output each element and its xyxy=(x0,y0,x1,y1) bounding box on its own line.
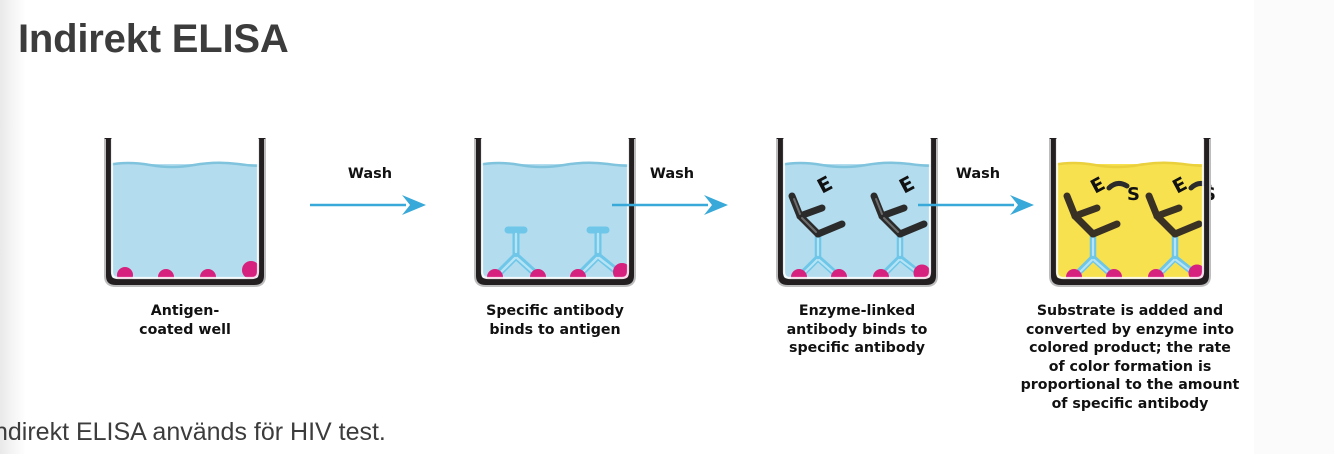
slide-page: Indirekt ELISA xyxy=(0,0,1334,454)
wash-arrow-1: Wash xyxy=(310,166,430,236)
caption-line: specific antibody xyxy=(789,340,925,356)
step-1-caption: Antigen- coated well xyxy=(60,302,310,339)
caption-line: Specific antibody xyxy=(486,303,624,319)
step-4-well-graphic: E S xyxy=(1005,120,1255,275)
arrow-icon xyxy=(612,192,730,223)
arrow-icon xyxy=(310,192,428,223)
caption-line: coated well xyxy=(139,322,231,338)
step-3-caption: Enzyme-linked antibody binds to specific… xyxy=(732,302,982,358)
step-4-caption: Substrate is added and converted by enzy… xyxy=(980,302,1280,413)
caption-line: Antigen- xyxy=(151,303,220,319)
caption-line: proportional to the amount xyxy=(1021,377,1240,393)
elisa-diagram: Antigen- coated well Wash xyxy=(60,120,1255,415)
caption-line: antibody binds to xyxy=(787,322,928,338)
caption-line: binds to antigen xyxy=(489,322,620,338)
caption-line: Substrate is added and xyxy=(1037,303,1223,319)
wash-label: Wash xyxy=(310,166,430,182)
footer-caption: ndirekt ELISA används för HIV test. xyxy=(0,418,386,447)
caption-line: of specific antibody xyxy=(1052,396,1209,412)
caption-line: colored product; the rate xyxy=(1029,340,1231,356)
caption-line: of color formation is xyxy=(1049,359,1212,375)
step-1-antigen-coated-well: Antigen- coated well xyxy=(60,120,310,275)
step-2-caption: Specific antibody binds to antigen xyxy=(430,302,680,339)
caption-line: converted by enzyme into xyxy=(1026,322,1234,338)
step-4-substrate-added: E S xyxy=(1005,120,1255,275)
step-1-well-graphic xyxy=(60,120,310,275)
page-title: Indirekt ELISA xyxy=(18,17,289,62)
left-edge-shadow xyxy=(0,0,26,454)
well-1 xyxy=(98,138,272,290)
caption-line: Enzyme-linked xyxy=(799,303,915,319)
wash-label: Wash xyxy=(612,166,732,182)
wash-arrow-2: Wash xyxy=(612,166,732,236)
substrate-label: S xyxy=(1127,184,1140,205)
well-4: E S xyxy=(1043,138,1217,290)
